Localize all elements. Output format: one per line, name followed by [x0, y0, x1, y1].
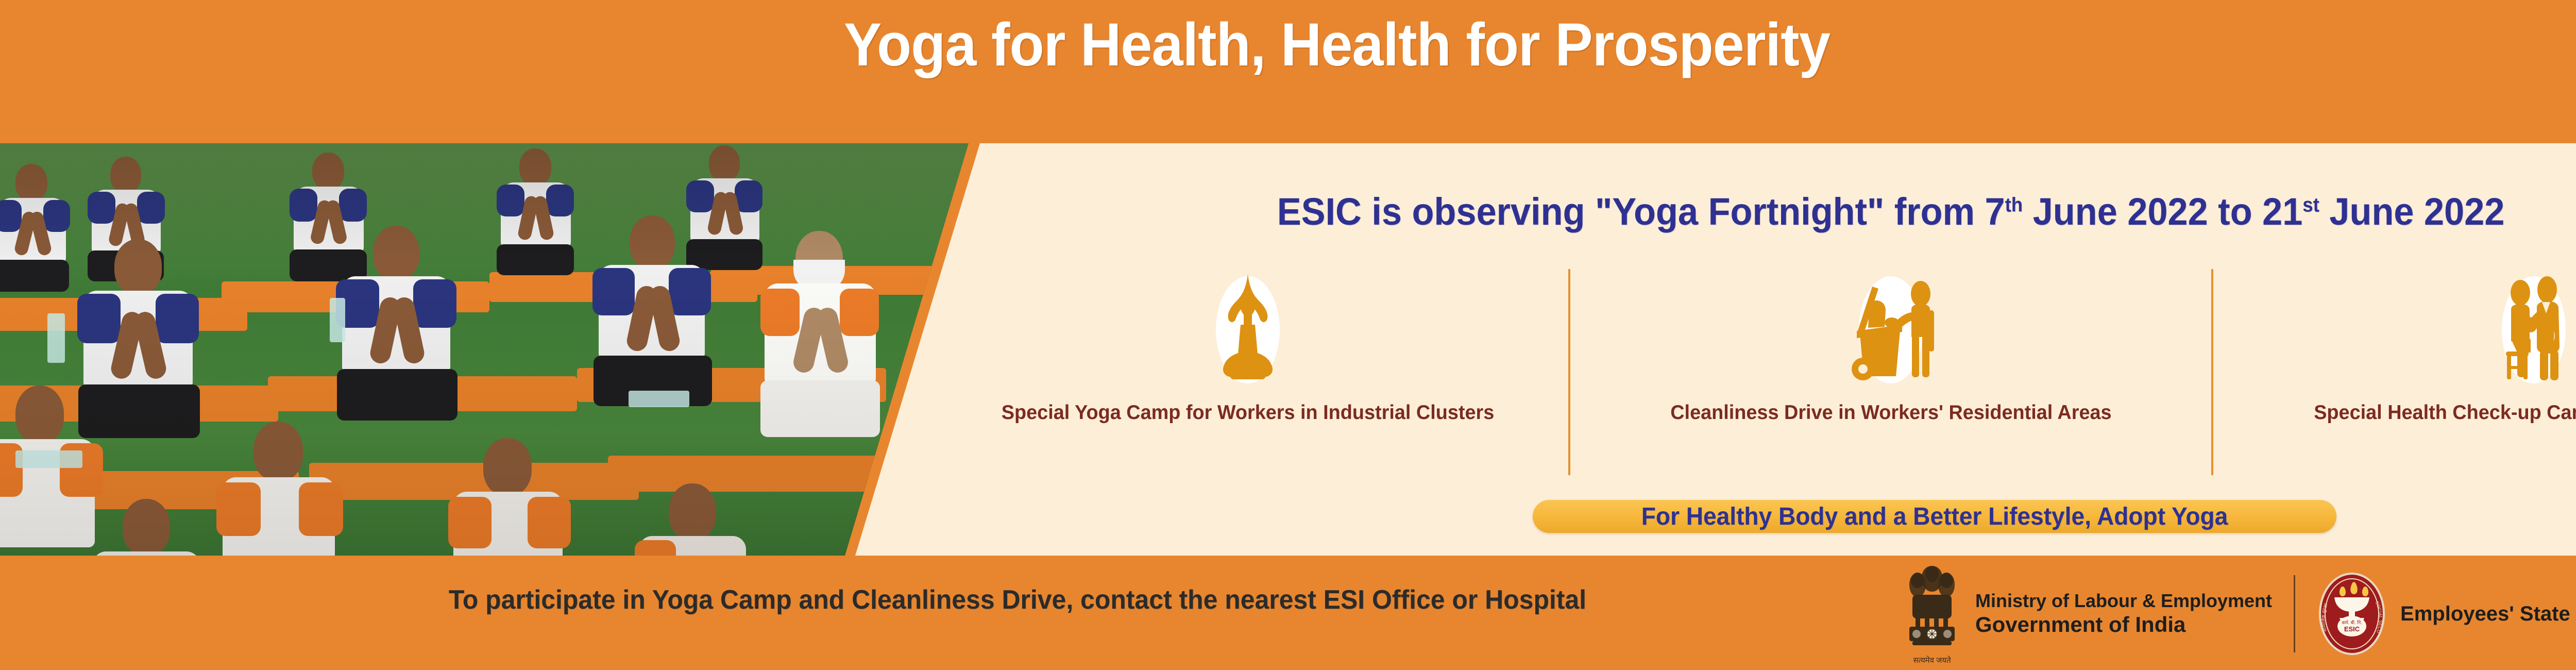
yoga-lotus-pose-icon — [1171, 264, 1325, 393]
headline-part-1: ESIC is observing "Yoga Fortnight" from … — [1277, 190, 2005, 233]
government-line: Government of India — [1975, 612, 2272, 638]
ashoka-emblem-icon — [1901, 563, 1963, 654]
footer-divider — [2294, 575, 2295, 652]
headline: ESIC is observing "Yoga Fortnight" from … — [986, 193, 2576, 231]
feature-label: Special Health Check-up Camp in ESI Hosp… — [2314, 402, 2576, 424]
esic-logo: कर्म. बी. नि. ESIC सामाजिक सुरक्षा SOCIA… — [2317, 571, 2576, 657]
page-title: Yoga for Health, Health for Prosperity — [94, 14, 2576, 75]
svg-text:कर्म. बी. नि.: कर्म. बी. नि. — [2342, 619, 2362, 625]
footer-logo-row: सत्यमेव जयते Ministry of Labour & Employ… — [1901, 565, 2576, 663]
headline-sup-2: st — [2302, 194, 2319, 216]
feature-label: Cleanliness Drive in Workers' Residentia… — [1670, 402, 2111, 424]
slogan-text: For Healthy Body and a Better Lifestyle,… — [1641, 502, 2228, 531]
feature-health-checkup: Special Health Check-up Camp in ESI Hosp… — [2213, 264, 2576, 491]
headline-part-2: June 2022 to 21 — [2023, 190, 2302, 233]
satyamev-jayate-motto: सत्यमेव जयते — [1901, 655, 1963, 665]
contact-instruction: To participate in Yoga Camp and Cleanlin… — [239, 584, 1797, 615]
slogan-badge: For Healthy Body and a Better Lifestyle,… — [1533, 500, 2336, 533]
esic-emblem-icon: कर्म. बी. नि. ESIC सामाजिक सुरक्षा SOCIA… — [2317, 571, 2387, 657]
svg-text:ESIC: ESIC — [2344, 625, 2360, 633]
esic-label: Employees' State Insurance Corporation — [2400, 602, 2576, 626]
yoga-event-photo — [0, 143, 979, 556]
ministry-line: Ministry of Labour & Employment — [1975, 590, 2272, 612]
feature-cleanliness-drive: Cleanliness Drive in Workers' Residentia… — [1570, 264, 2211, 491]
cleanliness-bin-sweeper-icon — [1814, 264, 1968, 393]
headline-sup-1: th — [2005, 194, 2023, 216]
government-of-india-logo: सत्यमेव जयते Ministry of Labour & Employ… — [1901, 563, 2272, 665]
esic-yoga-fortnight-banner: Yoga for Health, Health for Prosperity — [0, 0, 2576, 670]
headline-part-3: June 2022 — [2319, 190, 2505, 233]
government-of-india-label: Ministry of Labour & Employment Governme… — [1975, 590, 2272, 638]
feature-yoga-camp: Special Yoga Camp for Workers in Industr… — [927, 264, 1568, 491]
feature-label: Special Yoga Camp for Workers in Industr… — [1002, 402, 1495, 424]
feature-list: Special Yoga Camp for Workers in Industr… — [927, 264, 2576, 491]
doctor-health-checkup-icon — [2456, 264, 2576, 393]
